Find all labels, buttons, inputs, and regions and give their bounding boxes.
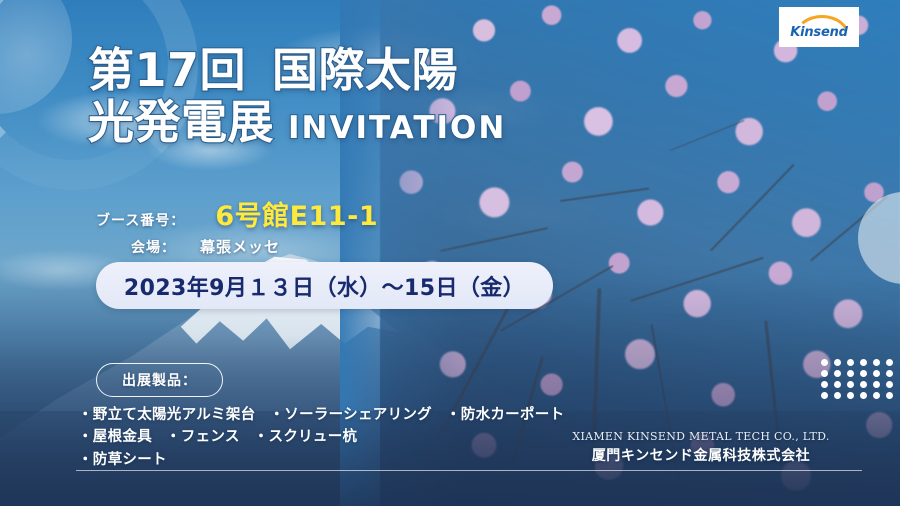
headline-line-2: 光発電展INVITATION [88, 96, 588, 148]
product-item: ・野立て太陽光アルミ架台 [78, 407, 255, 423]
products-badge-label: 出展製品： [122, 370, 197, 390]
company-name-japanese: 厦門キンセンド金属科技株式会社 [560, 445, 842, 465]
product-item: ・屋根金具 [78, 429, 152, 445]
kinsend-logo: Kinsend [779, 7, 859, 47]
page-title: 第17回国際太陽 光発電展INVITATION [88, 44, 588, 149]
invitation-poster: Kinsend 第17回国際太陽 光発電展INVITATION ブース番号： 6… [0, 0, 900, 506]
product-row: ・野立て太陽光アルミ架台・ソーラーシェアリング・防水カーポート [78, 404, 578, 426]
product-row: ・防草シート [78, 449, 578, 471]
headline-part-2a: 光発電展 [88, 95, 274, 149]
booth-number-label: ブース番号： [96, 210, 185, 230]
company-footer: XIAMEN KINSEND METAL TECH CO., LTD. 厦門キン… [560, 430, 842, 465]
logo-inner: Kinsend [786, 14, 852, 40]
product-item: ・フェンス [166, 429, 240, 445]
company-name-english: XIAMEN KINSEND METAL TECH CO., LTD. [560, 430, 842, 443]
product-item: ・スクリュー杭 [254, 429, 358, 445]
product-item: ・防水カーポート [446, 407, 564, 423]
headline-line-1: 第17回国際太陽 [88, 44, 588, 96]
venue-row: 会場： 幕張メッセ [131, 236, 280, 257]
booth-number-value: 6号館E11-1 [215, 194, 378, 233]
product-item: ・ソーラーシェアリング [269, 407, 432, 423]
dot-grid-decoration [821, 359, 899, 403]
products-badge: 出展製品： [96, 363, 223, 397]
products-list: ・野立て太陽光アルミ架台・ソーラーシェアリング・防水カーポート ・屋根金具・フェ… [78, 404, 578, 471]
footer-divider [76, 470, 862, 471]
booth-number-row: ブース番号： 6号館E11-1 [96, 194, 378, 233]
headline-part-1b: 国際太陽 [272, 43, 458, 97]
product-row: ・屋根金具・フェンス・スクリュー杭 [78, 426, 578, 448]
logo-wordmark: Kinsend [786, 25, 852, 40]
product-item: ・防草シート [78, 452, 167, 468]
venue-label: 会場： [131, 237, 176, 257]
headline-part-1a: 第17回 [88, 43, 246, 97]
venue-value: 幕張メッセ [200, 236, 280, 257]
date-text: 2023年9月１３日（水）～15日（金） [124, 270, 525, 302]
date-badge: 2023年9月１３日（水）～15日（金） [96, 262, 553, 309]
headline-invitation: INVITATION [288, 110, 506, 146]
